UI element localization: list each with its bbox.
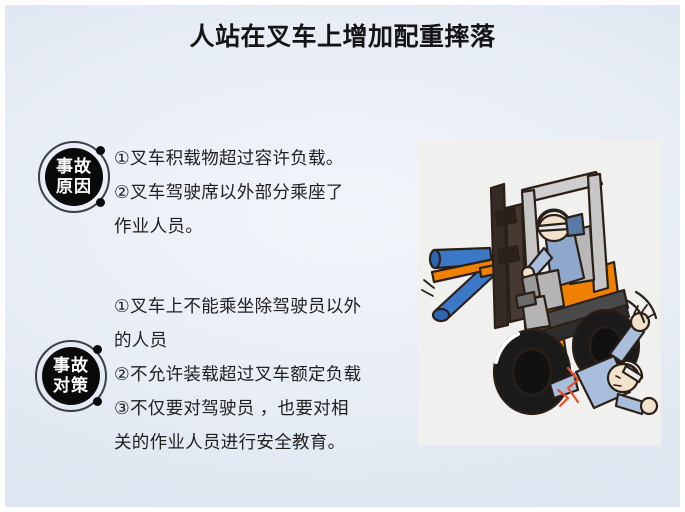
action-line-4: ③不仅要对驾驶员 ，也要对相 bbox=[114, 391, 361, 425]
accident-countermeasure-text: ①叉车上不能乘坐除驾驶员以外 的人员 ②不允许装载超过叉车额定负载 ③不仅要对驾… bbox=[114, 289, 361, 459]
badge-action-core: 事故 对策 bbox=[42, 347, 100, 405]
forklift-accident-illustration bbox=[418, 140, 661, 445]
badge-accident-cause: 事故 原因 bbox=[38, 141, 114, 217]
badge-cause-core: 事故 原因 bbox=[45, 148, 103, 206]
badge-dot-top-icon bbox=[93, 345, 102, 354]
action-line-3: ②不允许装载超过叉车额定负载 bbox=[114, 357, 361, 391]
cause-line-2: ②叉车驾驶席以外部分乘座了 bbox=[114, 175, 344, 209]
cause-line-1: ①叉车积载物超过容许负载。 bbox=[114, 141, 344, 175]
badge-dot-bottom-icon bbox=[96, 198, 105, 207]
badge-accident-countermeasure: 事故 对策 bbox=[35, 340, 111, 416]
action-line-2: 的人员 bbox=[114, 323, 361, 357]
action-line-1: ①叉车上不能乘坐除驾驶员以外 bbox=[114, 289, 361, 323]
accident-cause-text: ①叉车积载物超过容许负载。 ②叉车驾驶席以外部分乘座了 作业人员。 bbox=[114, 141, 344, 243]
badge-dot-bottom-icon bbox=[93, 397, 102, 406]
wheel-front-icon bbox=[494, 330, 570, 414]
cause-line-3: 作业人员。 bbox=[114, 209, 344, 243]
action-line-5: 关的作业人员进行安全教育。 bbox=[114, 425, 361, 459]
badge-action-line1: 事故 bbox=[53, 356, 89, 376]
badge-dot-top-icon bbox=[96, 146, 105, 155]
badge-cause-line2: 原因 bbox=[56, 177, 92, 197]
badge-action-line2: 对策 bbox=[53, 376, 89, 396]
forklift-accident-graphic bbox=[418, 140, 661, 445]
slide-canvas: 人站在叉车上增加配重摔落 事故 原因 ①叉车积载物超过容许负载。 ②叉车驾驶席以… bbox=[0, 0, 685, 512]
badge-cause-line1: 事故 bbox=[56, 157, 92, 177]
page-title: 人站在叉车上增加配重摔落 bbox=[0, 20, 685, 54]
